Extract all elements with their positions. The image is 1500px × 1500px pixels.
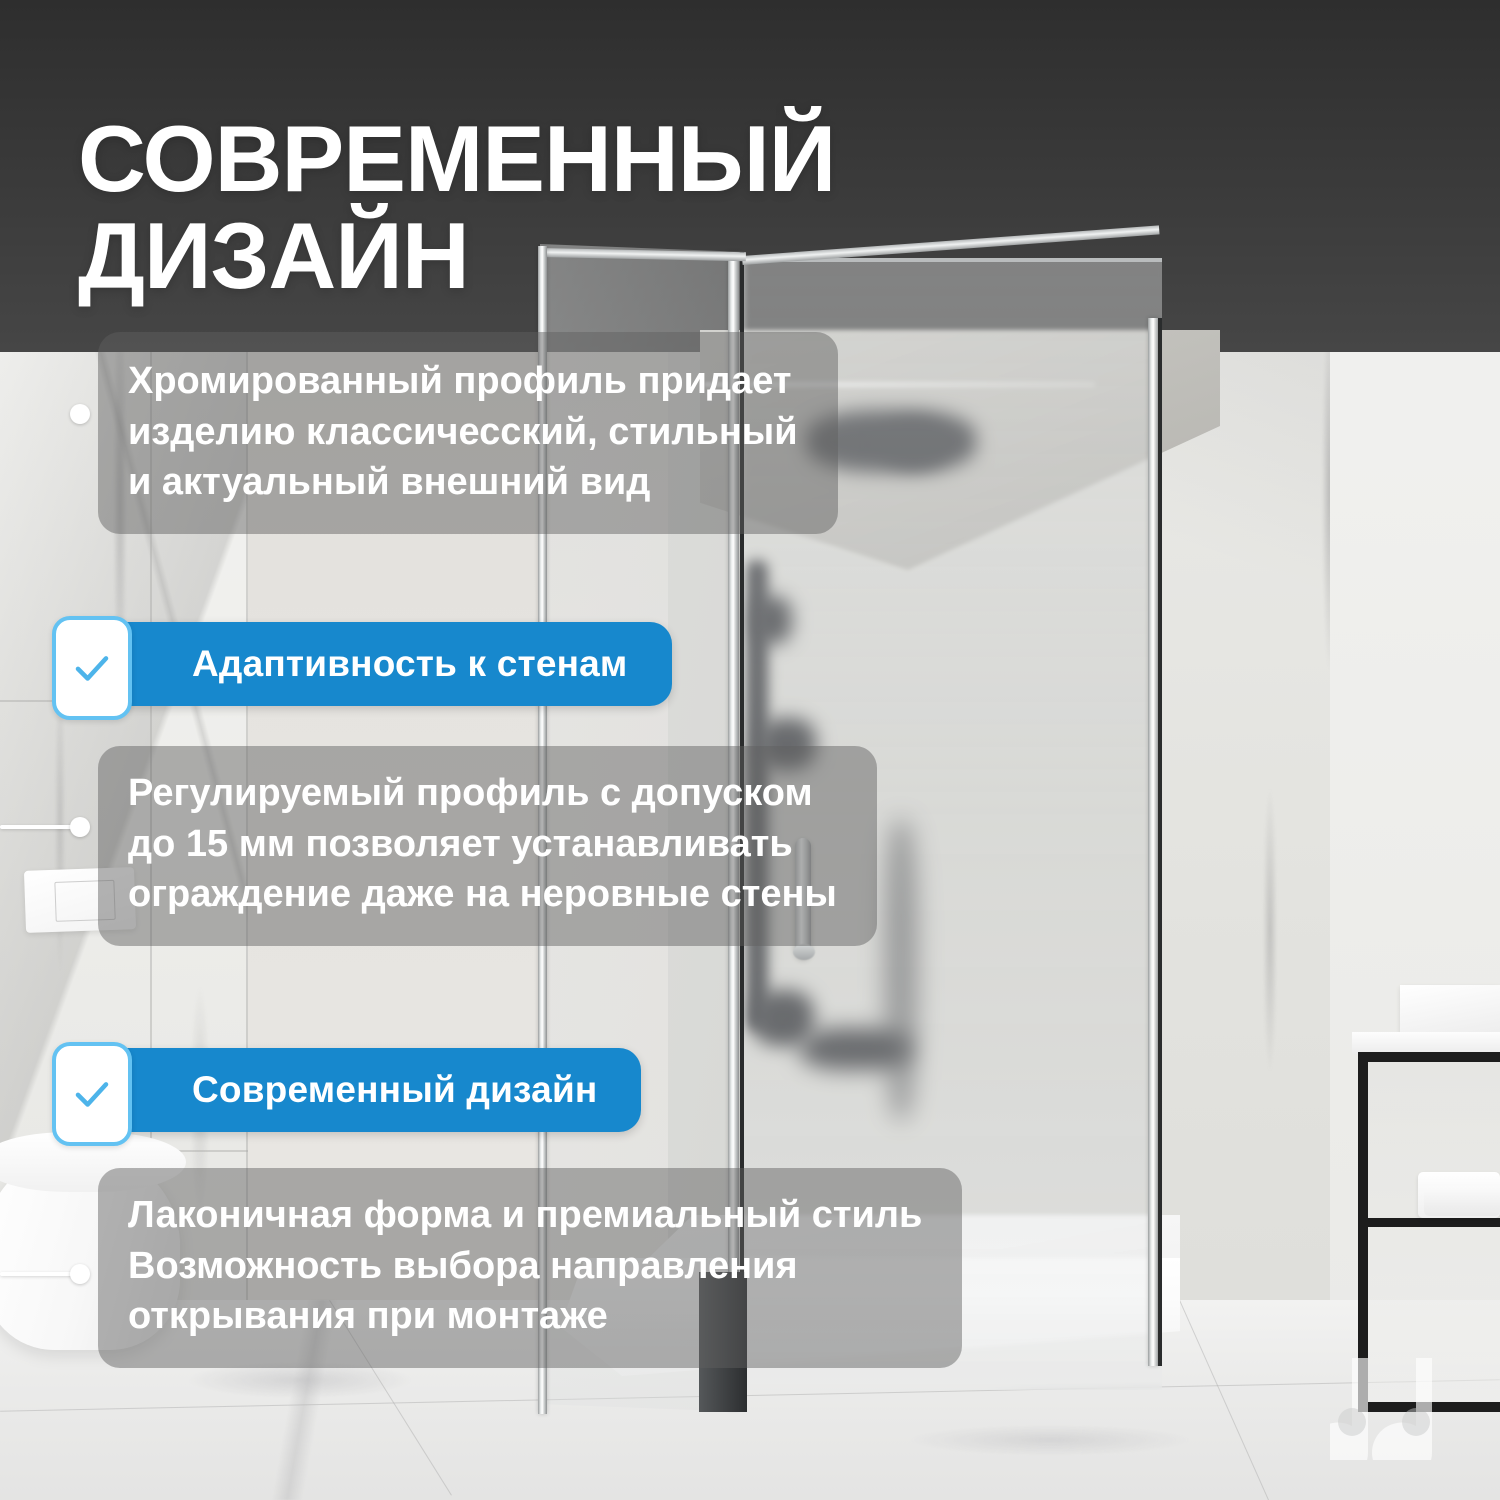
feature-line: Возможность выбора направления [128, 1241, 922, 1292]
feature-line: до 15 мм позволяет устанавливать [128, 819, 837, 870]
badge-label: Современный дизайн [192, 1069, 597, 1111]
badge-modern-design[interactable]: Современный дизайн [96, 1048, 641, 1132]
feature-panel-adjustable-profile: Регулируемый профиль с допуском до 15 мм… [98, 746, 877, 946]
shower-door-handle-foot [793, 944, 815, 960]
feature-line: изделию классичесский, стильный [128, 407, 798, 458]
poster-canvas: СОВРЕМЕННЫЙ ДИЗАЙН Хромированный профиль… [0, 0, 1500, 1500]
leader-line-feature-2 [0, 825, 80, 829]
check-icon[interactable] [52, 1042, 132, 1146]
feature-line: Хромированный профиль придает [128, 356, 798, 407]
badge-wall-adaptivity[interactable]: Адаптивность к стенам [96, 622, 672, 706]
feature-panel-chrome-profile: Хромированный профиль придает изделию кл… [98, 332, 838, 534]
folded-towel [1424, 1186, 1500, 1216]
bullet-dot-feature-1 [70, 404, 90, 424]
feature-line: открывания при монтаже [128, 1291, 922, 1342]
feature-line: Лаконичная форма и премиальный стиль [128, 1190, 922, 1241]
feature-line: ограждение даже на неровные стены [128, 869, 837, 920]
shelf-countertop [1352, 1032, 1500, 1054]
check-icon[interactable] [52, 616, 132, 720]
dd-logo [1330, 1350, 1480, 1460]
frame-seal-right [1158, 318, 1162, 1366]
badge-label: Адаптивность к стенам [192, 643, 628, 685]
feature-line: Регулируемый профиль с допуском [128, 768, 837, 819]
shelf-white-box [1400, 985, 1500, 1035]
leader-line-feature-3 [0, 1272, 80, 1276]
feature-line: и актуальный внешний вид [128, 457, 798, 508]
feature-panel-modern-form: Лаконичная форма и премиальный стиль Воз… [98, 1168, 962, 1368]
leader-dot-feature-3 [70, 1264, 90, 1284]
shelf-middle-rail [1358, 1218, 1500, 1227]
leader-dot-feature-2 [70, 817, 90, 837]
page-title: СОВРЕМЕННЫЙ ДИЗАЙН [78, 111, 835, 305]
